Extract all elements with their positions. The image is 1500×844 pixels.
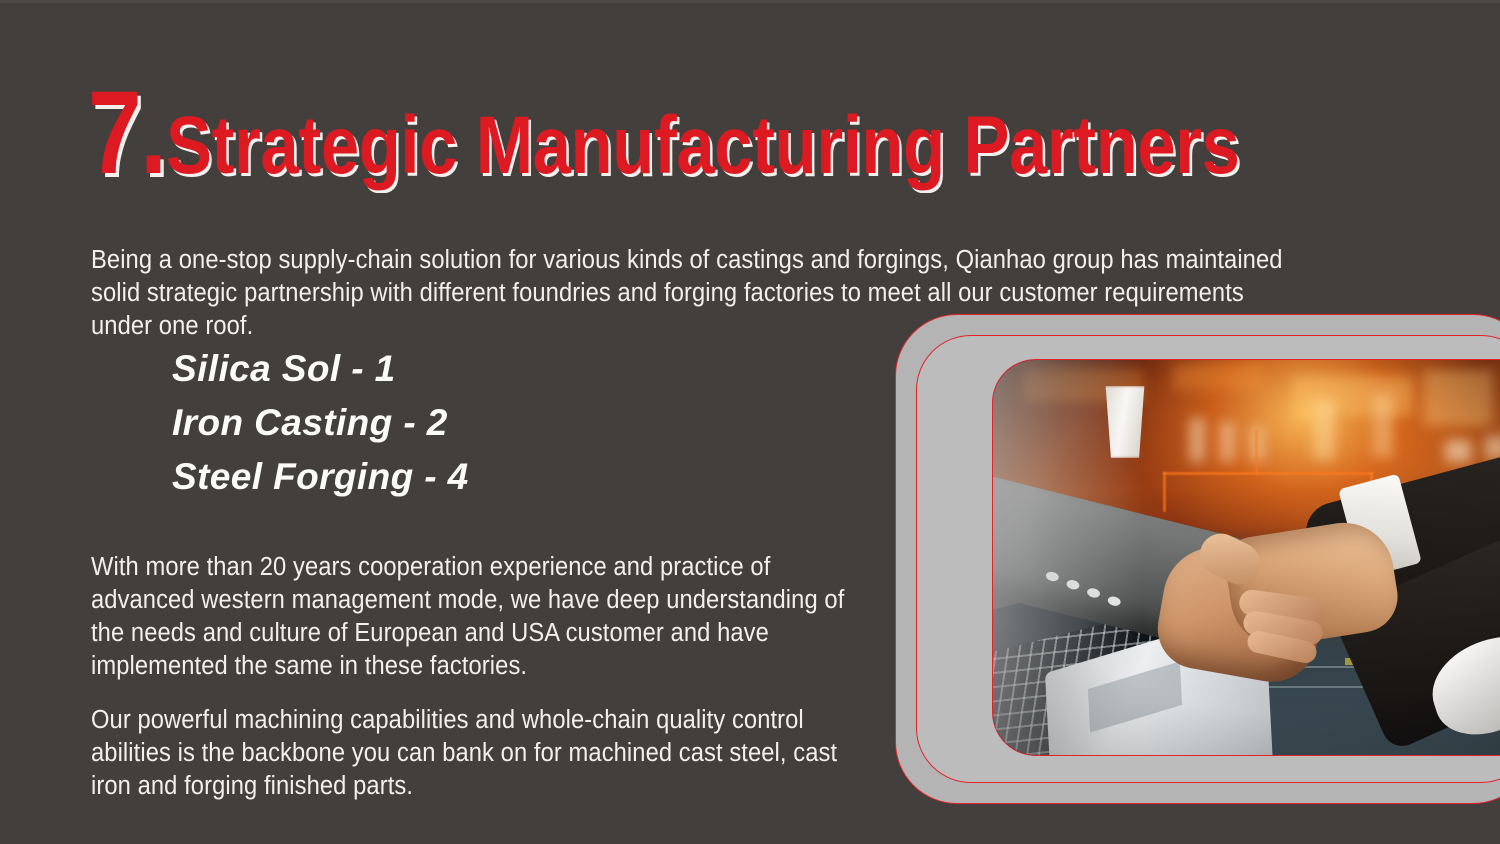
list-item: Silica Sol - 1	[172, 342, 469, 396]
laptop	[993, 566, 1167, 755]
frame-plate-back	[895, 314, 1500, 804]
hand-right	[1221, 516, 1402, 653]
list-item: Iron Casting - 2	[172, 396, 469, 450]
business-handshake-photo	[992, 359, 1500, 756]
cuff-buttons	[1042, 567, 1174, 624]
page-title: 7.Strategic Manufacturing Partners	[88, 74, 1444, 192]
intro-paragraph: Being a one-stop supply-chain solution f…	[91, 244, 1291, 343]
experience-paragraph: With more than 20 years cooperation expe…	[91, 551, 863, 683]
title-number: 7.	[88, 74, 165, 192]
top-edge-hairline	[0, 0, 1500, 3]
slide-canvas: 7.Strategic Manufacturing Partners Being…	[0, 0, 1500, 844]
frame-plate-middle	[916, 335, 1500, 783]
capability-list: Silica Sol - 1 Iron Casting - 2 Steel Fo…	[172, 342, 469, 504]
capability-paragraph: Our powerful machining capabilities and …	[91, 704, 863, 803]
coffee-cup	[1103, 386, 1147, 458]
list-item: Steel Forging - 4	[172, 450, 469, 504]
title-text: Strategic Manufacturing Partners	[166, 105, 1240, 187]
hand-left	[1151, 539, 1330, 689]
